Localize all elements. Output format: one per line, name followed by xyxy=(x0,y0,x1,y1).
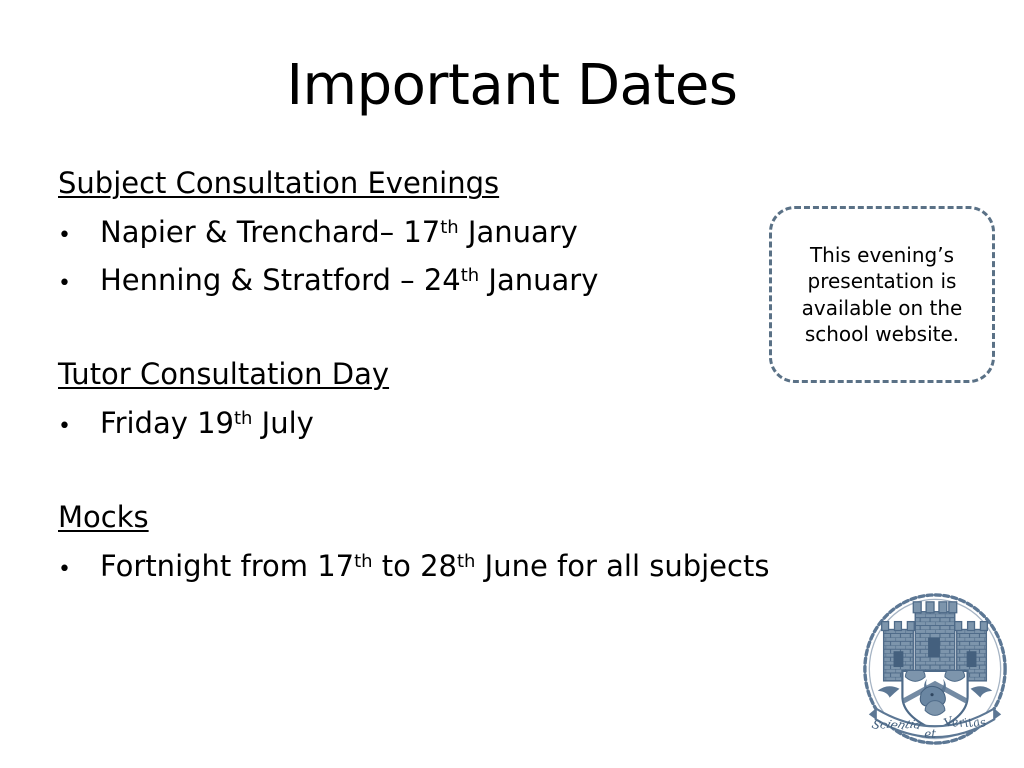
ordinal-suffix: th xyxy=(234,408,252,429)
list-item: • Friday 19th July xyxy=(58,400,848,448)
callout-line-3: available on the xyxy=(802,296,963,320)
bullet-icon: • xyxy=(58,225,100,247)
slide-body: Subject Consultation Evenings • Napier &… xyxy=(58,164,848,591)
section-heading-text: Mocks xyxy=(58,500,149,534)
page-title: Important Dates xyxy=(0,57,1024,116)
callout-line-4: school website. xyxy=(805,322,959,346)
section-mocks: Mocks • Fortnight from 17th to 28th June… xyxy=(58,498,848,591)
list-item: • Fortnight from 17th to 28th June for a… xyxy=(58,543,848,591)
list-item: • Henning & Stratford – 24th January xyxy=(58,257,848,305)
ordinal-suffix: th xyxy=(461,265,479,286)
slide: Important Dates Subject Consultation Eve… xyxy=(0,0,1024,768)
section-heading-text: Tutor Consultation Day xyxy=(58,357,389,391)
section-heading: Subject Consultation Evenings xyxy=(58,164,848,202)
bullet-icon: • xyxy=(58,416,100,438)
callout-box: This evening’s presentation is available… xyxy=(769,206,995,383)
bullet-icon: • xyxy=(58,273,100,295)
list-item-text: Fortnight from 17th to 28th June for all… xyxy=(100,543,769,591)
callout-line-1: This evening’s xyxy=(810,243,954,267)
section-heading: Tutor Consultation Day xyxy=(58,355,848,393)
callout-line-2: presentation is xyxy=(808,269,957,293)
section-heading: Mocks xyxy=(58,498,848,536)
section-heading-text: Subject Consultation Evenings xyxy=(58,166,499,200)
list-item-text: Napier & Trenchard– 17th January xyxy=(100,209,578,257)
school-crest-logo: Scientia et Veritas xyxy=(856,589,1014,749)
ordinal-suffix: th xyxy=(354,551,372,572)
ordinal-suffix: th xyxy=(457,551,475,572)
section-tutor-consultation-day: Tutor Consultation Day • Friday 19th Jul… xyxy=(58,355,848,448)
callout-text: This evening’s presentation is available… xyxy=(792,242,973,347)
list-item-text: Friday 19th July xyxy=(100,400,314,448)
list-item-text: Henning & Stratford – 24th January xyxy=(100,257,598,305)
section-subject-consultation-evenings: Subject Consultation Evenings • Napier &… xyxy=(58,164,848,305)
list-item: • Napier & Trenchard– 17th January xyxy=(58,209,848,257)
ordinal-suffix: th xyxy=(440,217,458,238)
bullet-icon: • xyxy=(58,559,100,581)
